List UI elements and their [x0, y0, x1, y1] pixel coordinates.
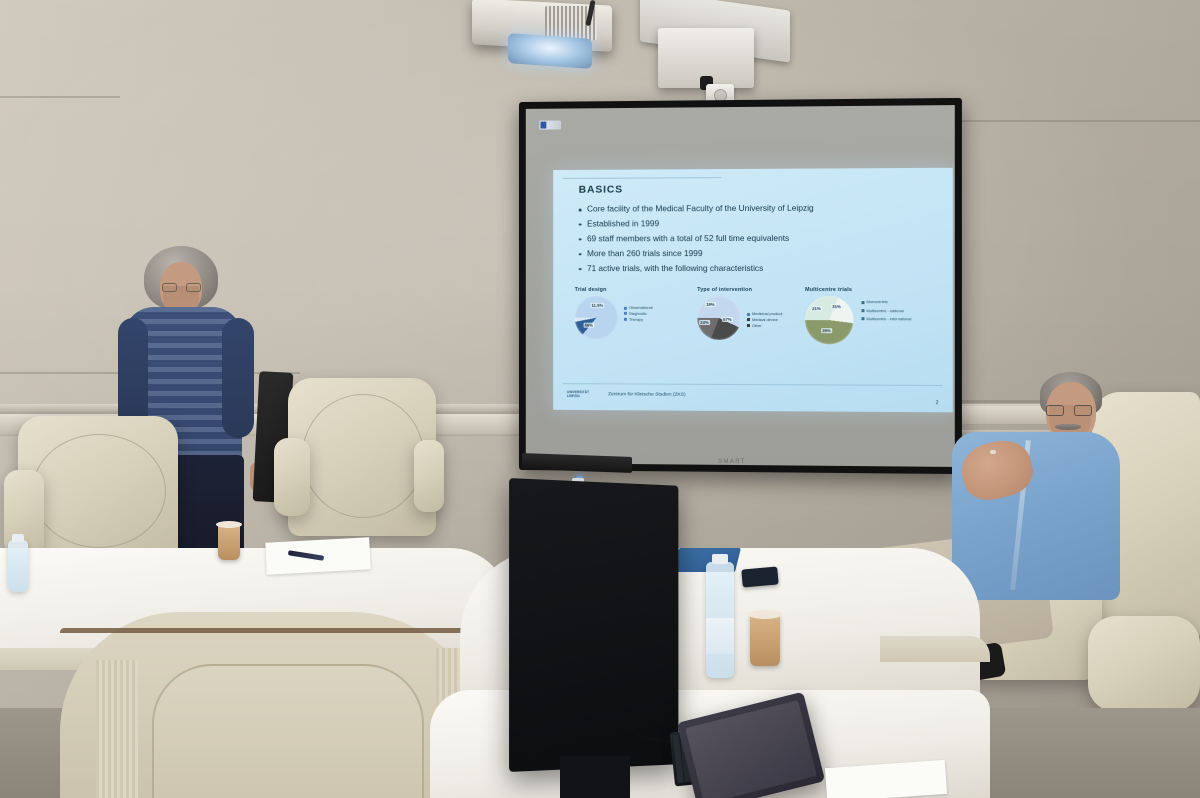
bullet-text: More than 260 trials since 1999: [587, 248, 702, 259]
legend-item: Multicentric - national: [861, 308, 911, 314]
bullet-text: 69 staff members with a total of 52 full…: [587, 233, 789, 244]
whiteboard: BASICS Core facility of the Medical Facu…: [519, 98, 962, 474]
coffee-cup: [218, 524, 240, 560]
legend-swatch: [861, 310, 864, 313]
bottle-cap: [712, 554, 728, 564]
slide-divider: [563, 177, 721, 179]
slide-charts: Trial design 86% 11.5% Observational Dia…: [571, 287, 947, 384]
legend-swatch: [624, 318, 627, 321]
chair-armrest: [274, 438, 310, 516]
legend-swatch: [624, 312, 627, 315]
slide-page-number: 2: [936, 400, 939, 406]
legend-swatch: [861, 317, 864, 320]
chair-seam: [302, 394, 424, 518]
legend-swatch: [747, 313, 750, 316]
list-item: Established in 1999: [579, 217, 929, 229]
water-bottle: [8, 540, 28, 592]
wall-seam: [960, 120, 1200, 122]
chart-title: Type of intervention: [697, 287, 752, 293]
glasses-icon: [186, 283, 201, 292]
chart-title: Multicentre trials: [805, 287, 853, 293]
bullet-dot-icon: [579, 209, 581, 211]
legend-item: Other: [747, 323, 783, 329]
meeting-room-photo: BASICS Core facility of the Medical Facu…: [0, 0, 1200, 798]
ring-icon: [990, 450, 996, 454]
pie-chart: 31% 21% 39%: [805, 296, 853, 344]
list-item: More than 260 trials since 1999: [579, 247, 929, 258]
chart-title: Trial design: [575, 287, 618, 293]
slide-title: BASICS: [579, 184, 623, 196]
coffee-cup: [750, 614, 780, 666]
glasses-icon: [1046, 405, 1064, 416]
smartphone: [741, 566, 778, 587]
presenter-arm: [118, 318, 148, 430]
legend-item: Therapy: [624, 317, 653, 323]
wall-seam: [0, 96, 120, 98]
bullet-dot-icon: [579, 253, 581, 255]
chart-legend: Medicinal product Medical device Other: [747, 311, 783, 329]
bullet-text: 71 active trials, with the following cha…: [587, 263, 763, 274]
bullet-text: Core facility of the Medical Faculty of …: [587, 203, 814, 214]
legend-swatch: [624, 306, 627, 309]
chart-trial-design: Trial design 86% 11.5% Observational Dia…: [575, 287, 618, 340]
bottle-cap: [12, 534, 24, 542]
projected-slide: BASICS Core facility of the Medical Facu…: [553, 168, 953, 413]
board-brand-label: SMART: [718, 459, 746, 465]
list-item: 71 active trials, with the following cha…: [579, 262, 929, 273]
cup-rim: [748, 610, 782, 619]
legend-swatch: [747, 318, 750, 321]
chart-legend: Observational Diagnostic Therapy: [624, 305, 653, 323]
bullet-text: Established in 1999: [587, 218, 659, 229]
glasses-icon: [1074, 405, 1092, 416]
pie-slice-label: 11.5%: [590, 303, 604, 308]
slide-footer-text: Zentrum für Klinische Studien (ZKS): [608, 392, 685, 397]
chair-armrest: [414, 440, 444, 512]
list-item: 69 staff members with a total of 52 full…: [579, 232, 929, 243]
chair-seam: [32, 434, 166, 548]
table-trim: [60, 628, 490, 633]
board-sticker: [539, 120, 561, 129]
chart-type-of-intervention: Type of intervention 57% 24% 19% Medicin…: [697, 287, 752, 340]
pie-slice-label: 19%: [705, 302, 716, 307]
pie-slice-label: 39%: [821, 328, 832, 333]
legend-item: Monocentric: [861, 299, 911, 305]
legend-item: Multicentric - international: [861, 316, 911, 322]
legend-swatch: [747, 324, 750, 327]
bullet-dot-icon: [579, 268, 581, 270]
whiteboard-surface: BASICS Core facility of the Medical Facu…: [526, 105, 955, 467]
pie-slice-label: 86%: [584, 323, 594, 328]
bullet-dot-icon: [579, 238, 581, 240]
pie-slice-label: 21%: [811, 306, 822, 311]
bottle-label: [706, 618, 734, 654]
table-edge: [880, 636, 990, 662]
pie-slice-label: 31%: [831, 304, 842, 309]
slide-bullet-list: Core facility of the Medical Faculty of …: [579, 202, 929, 277]
projector-lens-icon: [508, 33, 592, 69]
bullet-dot-icon: [579, 223, 581, 225]
pie-slice-label: 24%: [699, 320, 710, 325]
pedestal-fluting: [96, 660, 138, 798]
presenter-arm: [222, 318, 254, 438]
pedestal-panel: [152, 664, 424, 798]
pie-chart: 86% 11.5%: [575, 296, 618, 340]
legend-swatch: [861, 301, 864, 304]
pie-chart: 57% 24% 19%: [697, 296, 741, 340]
pie-slice-label: 57%: [722, 317, 733, 322]
university-logo: UNIVERSITÄT LEIPZIG: [567, 390, 589, 399]
chart-legend: Monocentric Multicentric - national Mult…: [861, 299, 911, 322]
monitor-stand: [560, 756, 630, 798]
chair-armrest: [1088, 616, 1200, 712]
moustache-icon: [1055, 424, 1081, 430]
list-item: Core facility of the Medical Faculty of …: [579, 202, 929, 214]
glasses-icon: [162, 283, 177, 292]
cup-rim: [216, 521, 242, 528]
chart-multicentre-trials: Multicentre trials 31% 21% 39% Monocentr…: [805, 287, 853, 344]
